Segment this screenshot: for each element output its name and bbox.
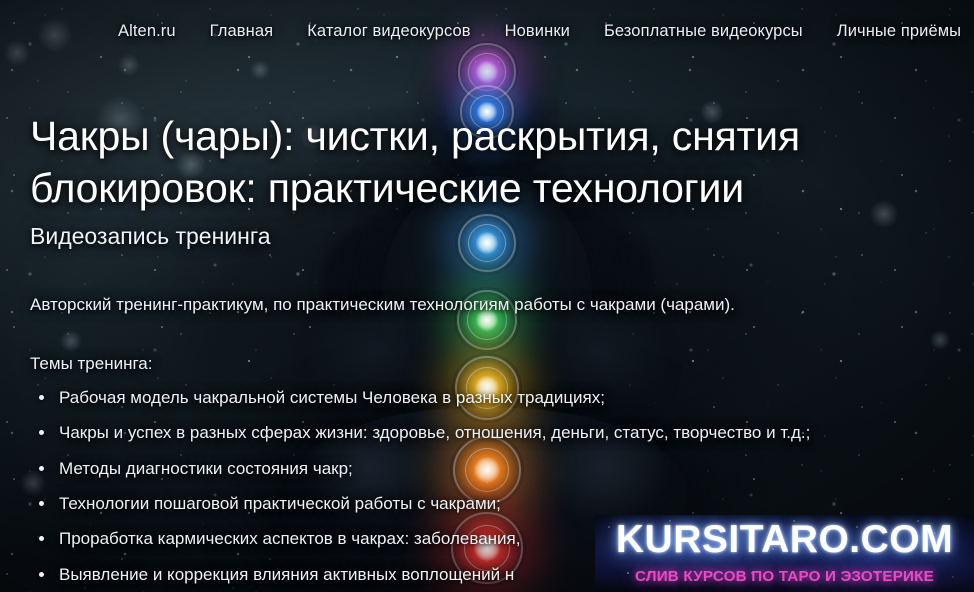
nav-item-bezoplatnye-videokursy[interactable]: Безоплатные видеокурсы bbox=[604, 22, 803, 41]
watermark-kursitaro: KURSITARO.COM СЛИВ КУРСОВ ПО ТАРО И ЭЗОТ… bbox=[595, 515, 974, 592]
nav-item-novinki[interactable]: Новинки bbox=[505, 22, 570, 41]
lead-paragraph: Авторский тренинг-практикум, по практиче… bbox=[30, 292, 964, 318]
topic-item: Чакры и успех в разных сферах жизни: здо… bbox=[30, 421, 964, 444]
chakra-crown-yantra bbox=[475, 61, 500, 83]
nav-item-katalog-videokursov[interactable]: Каталог видеокурсов bbox=[307, 22, 470, 41]
watermark-subtitle: СЛИВ КУРСОВ ПО ТАРО И ЭЗОТЕРИКЕ bbox=[595, 568, 974, 585]
topics-label: Темы тренинга: bbox=[30, 354, 964, 374]
watermark-title: KURSITARO.COM bbox=[595, 518, 974, 562]
chakra-crown-core bbox=[476, 61, 497, 82]
topic-item: Методы диагностики состояния чакр; bbox=[30, 457, 964, 480]
nav-item-alten-ru[interactable]: Alten.ru bbox=[118, 22, 176, 41]
nav-item-glavnaya[interactable]: Главная bbox=[210, 22, 274, 41]
main-navigation: Alten.ruГлавнаяКаталог видеокурсовНовинк… bbox=[0, 0, 974, 62]
topic-item: Технологии пошаговой практической работы… bbox=[30, 492, 964, 515]
topic-item: Рабочая модель чакральной системы Челове… bbox=[30, 386, 964, 409]
page-subtitle: Видеозапись тренинга bbox=[30, 223, 964, 250]
nav-item-lichnye-priemy[interactable]: Личные приёмы bbox=[837, 22, 961, 41]
hero-banner: Alten.ruГлавнаяКаталог видеокурсовНовинк… bbox=[0, 0, 974, 592]
bokeh-orb bbox=[250, 60, 270, 80]
page-title: Чакры (чары): чистки, раскрытия, снятия … bbox=[30, 110, 910, 214]
